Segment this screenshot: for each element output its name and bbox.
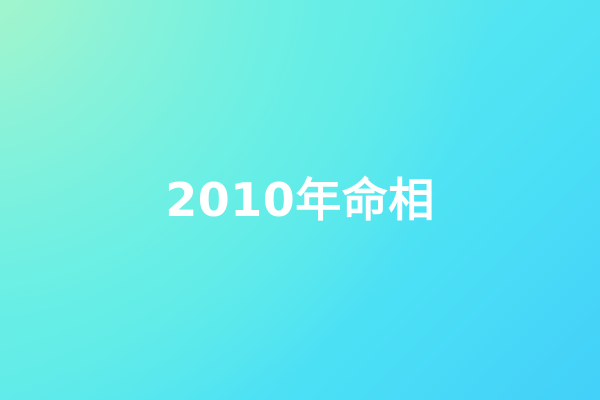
headline-container: 2010年命相 — [0, 0, 600, 400]
gradient-banner: 2010年命相 — [0, 0, 600, 400]
banner-headline: 2010年命相 — [165, 177, 435, 223]
